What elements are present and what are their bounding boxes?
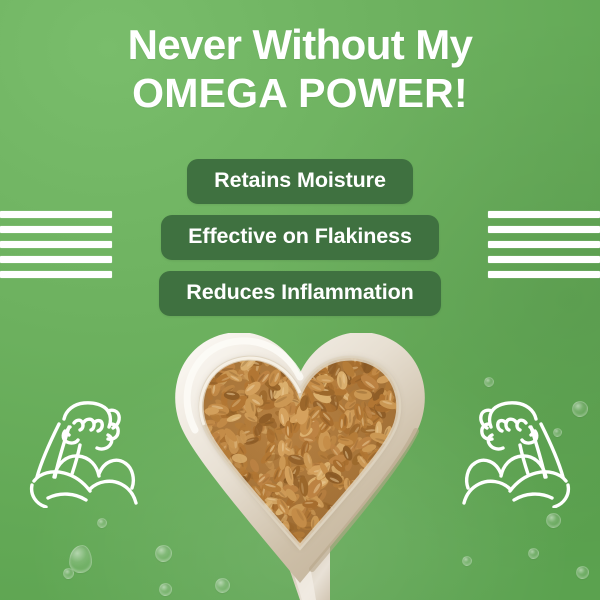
water-droplet-icon bbox=[69, 545, 92, 573]
horizontal-stripes-icon-right bbox=[488, 211, 600, 278]
benefit-pill-retains-moisture: Retains Moisture bbox=[187, 159, 413, 204]
headline-line-1: Never Without My bbox=[0, 24, 600, 67]
stripe bbox=[488, 211, 600, 218]
stripe bbox=[488, 226, 600, 233]
water-droplet-icon bbox=[484, 377, 494, 387]
water-droplet-icon bbox=[576, 566, 589, 579]
stripe bbox=[488, 256, 600, 263]
stripe bbox=[0, 226, 112, 233]
stripe bbox=[0, 271, 112, 278]
heart-shaped-bowl-with-flaxseeds bbox=[150, 333, 450, 600]
stripe bbox=[0, 211, 112, 218]
water-droplet-icon bbox=[63, 568, 74, 579]
stripe bbox=[0, 256, 112, 263]
headline-line-2: OMEGA POWER! bbox=[0, 73, 600, 115]
flexed-bicep-icon-right bbox=[460, 393, 588, 508]
stripe bbox=[488, 271, 600, 278]
water-droplet-icon bbox=[546, 513, 561, 528]
stripe bbox=[488, 241, 600, 248]
flexed-bicep-icon-left bbox=[12, 393, 140, 508]
water-droplet-icon bbox=[462, 556, 472, 566]
water-droplet-icon bbox=[97, 518, 107, 528]
benefit-pill-effective-on-flakiness: Effective on Flakiness bbox=[161, 215, 439, 260]
promo-poster: Never Without My OMEGA POWER! Retains Mo… bbox=[0, 0, 600, 600]
water-droplet-icon bbox=[528, 548, 539, 559]
stripe bbox=[0, 241, 112, 248]
headline: Never Without My OMEGA POWER! bbox=[0, 24, 600, 115]
benefit-pill-reduces-inflammation: Reduces Inflammation bbox=[159, 271, 440, 316]
horizontal-stripes-icon-left bbox=[0, 211, 112, 278]
